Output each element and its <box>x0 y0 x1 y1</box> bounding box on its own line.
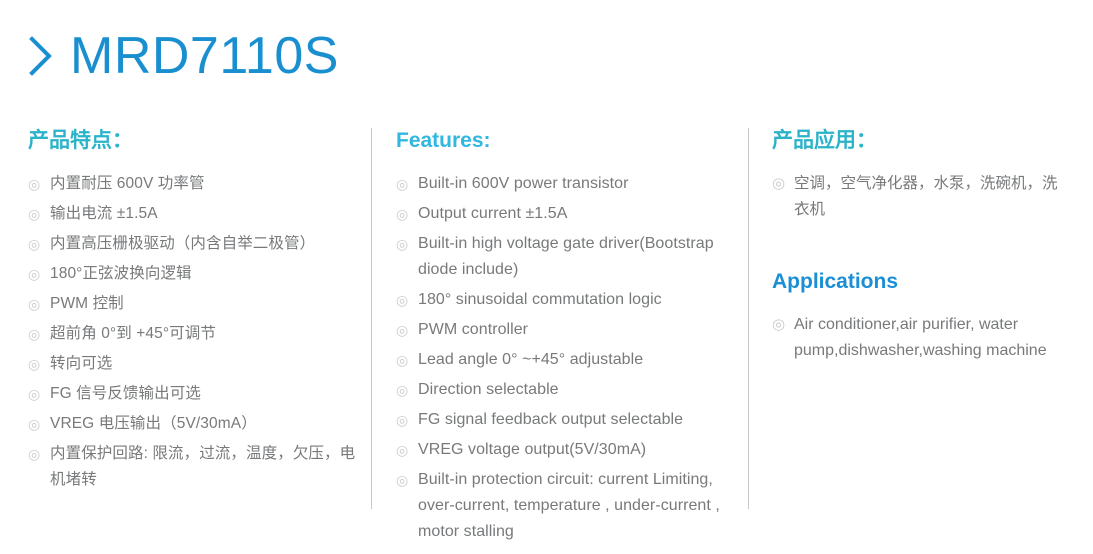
applications-en-heading: Applications <box>772 269 1072 294</box>
circle-bullet-icon: ◎ <box>28 171 40 197</box>
list-item: ◎VREG 电压输出（5V/30mA） <box>28 411 364 437</box>
circle-bullet-icon: ◎ <box>396 201 408 227</box>
list-item: ◎Air conditioner,air purifier, water pum… <box>772 312 1072 364</box>
chevron-right-icon <box>28 34 54 78</box>
list-item-label: Direction selectable <box>418 381 559 398</box>
circle-bullet-icon: ◎ <box>28 441 40 467</box>
list-item: ◎PWM 控制 <box>28 291 364 317</box>
column-divider-right <box>748 128 749 509</box>
circle-bullet-icon: ◎ <box>772 171 785 197</box>
list-item-label: VREG 电压输出（5V/30mA） <box>50 415 257 432</box>
list-item: ◎FG 信号反馈输出可选 <box>28 381 364 407</box>
list-item: ◎转向可选 <box>28 351 364 377</box>
circle-bullet-icon: ◎ <box>28 231 40 257</box>
circle-bullet-icon: ◎ <box>28 291 40 317</box>
circle-bullet-icon: ◎ <box>396 171 408 197</box>
product-spec-page: MRD7110S 产品特点： ◎内置耐压 600V 功率管 ◎输出电流 ±1.5… <box>0 0 1093 554</box>
list-item: ◎FG signal feedback output selectable <box>396 407 736 433</box>
circle-bullet-icon: ◎ <box>28 201 40 227</box>
circle-bullet-icon: ◎ <box>396 437 408 463</box>
circle-bullet-icon: ◎ <box>396 467 408 493</box>
list-item-label: PWM controller <box>418 321 528 338</box>
list-item: ◎空调，空气净化器，水泵，洗碗机，洗衣机 <box>772 171 1072 223</box>
features-en-list: ◎Built-in 600V power transistor ◎Output … <box>396 171 736 545</box>
list-item: ◎内置保护回路: 限流，过流，温度，欠压，电机堵转 <box>28 441 364 493</box>
list-item-label: Built-in high voltage gate driver(Bootst… <box>418 235 714 278</box>
circle-bullet-icon: ◎ <box>28 381 40 407</box>
product-header: MRD7110S <box>28 30 339 82</box>
list-item: ◎PWM controller <box>396 317 736 343</box>
list-item-label: 超前角 0°到 +45°可调节 <box>50 325 216 342</box>
circle-bullet-icon: ◎ <box>396 407 408 433</box>
list-item: ◎超前角 0°到 +45°可调节 <box>28 321 364 347</box>
list-item-label: VREG voltage output(5V/30mA) <box>418 441 646 458</box>
list-item: ◎Lead angle 0° ~+45° adjustable <box>396 347 736 373</box>
applications-cn-list: ◎空调，空气净化器，水泵，洗碗机，洗衣机 <box>772 171 1072 223</box>
circle-bullet-icon: ◎ <box>772 312 785 338</box>
circle-bullet-icon: ◎ <box>28 321 40 347</box>
list-item: ◎Output current ±1.5A <box>396 201 736 227</box>
list-item: ◎Built-in high voltage gate driver(Boots… <box>396 231 736 283</box>
list-item-label: 空调，空气净化器，水泵，洗碗机，洗衣机 <box>794 175 1058 218</box>
list-item: ◎VREG voltage output(5V/30mA) <box>396 437 736 463</box>
list-item: ◎Built-in protection circuit: current Li… <box>396 467 736 545</box>
features-en-heading: Features: <box>396 128 736 153</box>
column-applications: 产品应用： ◎空调，空气净化器，水泵，洗碗机，洗衣机 Applications … <box>772 128 1072 368</box>
circle-bullet-icon: ◎ <box>28 261 40 287</box>
circle-bullet-icon: ◎ <box>28 411 40 437</box>
list-item-label: 180° sinusoidal commutation logic <box>418 291 662 308</box>
list-item: ◎输出电流 ±1.5A <box>28 201 364 227</box>
list-item-label: PWM 控制 <box>50 295 124 312</box>
circle-bullet-icon: ◎ <box>396 287 408 313</box>
list-item-label: Output current ±1.5A <box>418 205 567 222</box>
circle-bullet-icon: ◎ <box>396 231 408 257</box>
list-item: ◎180° sinusoidal commutation logic <box>396 287 736 313</box>
list-item-label: 输出电流 ±1.5A <box>50 205 158 222</box>
circle-bullet-icon: ◎ <box>396 317 408 343</box>
columns-container: 产品特点： ◎内置耐压 600V 功率管 ◎输出电流 ±1.5A ◎内置高压栅极… <box>0 128 1093 528</box>
list-item-label: Air conditioner,air purifier, water pump… <box>794 316 1047 359</box>
circle-bullet-icon: ◎ <box>396 347 408 373</box>
circle-bullet-icon: ◎ <box>396 377 408 403</box>
list-item: ◎Direction selectable <box>396 377 736 403</box>
list-item: ◎180°正弦波换向逻辑 <box>28 261 364 287</box>
list-item-label: 内置高压栅极驱动（内含自举二极管） <box>50 235 315 252</box>
list-item-label: FG signal feedback output selectable <box>418 411 683 428</box>
list-item-label: FG 信号反馈输出可选 <box>50 385 201 402</box>
list-item-label: 内置保护回路: 限流，过流，温度，欠压，电机堵转 <box>50 445 355 488</box>
list-item-label: Lead angle 0° ~+45° adjustable <box>418 351 643 368</box>
list-item: ◎Built-in 600V power transistor <box>396 171 736 197</box>
list-item-label: 内置耐压 600V 功率管 <box>50 175 205 192</box>
list-item-label: 180°正弦波换向逻辑 <box>50 265 192 282</box>
list-item: ◎内置耐压 600V 功率管 <box>28 171 364 197</box>
list-item-label: Built-in 600V power transistor <box>418 175 628 192</box>
circle-bullet-icon: ◎ <box>28 351 40 377</box>
list-item-label: 转向可选 <box>50 355 112 372</box>
column-features-en: Features: ◎Built-in 600V power transisto… <box>396 128 736 549</box>
applications-en-list: ◎Air conditioner,air purifier, water pum… <box>772 312 1072 364</box>
list-item: ◎内置高压栅极驱动（内含自举二极管） <box>28 231 364 257</box>
features-cn-heading: 产品特点： <box>28 128 364 153</box>
column-divider-left <box>371 128 372 509</box>
page-title: MRD7110S <box>70 30 339 82</box>
applications-cn-heading: 产品应用： <box>772 128 1072 153</box>
features-cn-list: ◎内置耐压 600V 功率管 ◎输出电流 ±1.5A ◎内置高压栅极驱动（内含自… <box>28 171 364 493</box>
list-item-label: Built-in protection circuit: current Lim… <box>418 471 720 540</box>
column-features-cn: 产品特点： ◎内置耐压 600V 功率管 ◎输出电流 ±1.5A ◎内置高压栅极… <box>28 128 364 497</box>
